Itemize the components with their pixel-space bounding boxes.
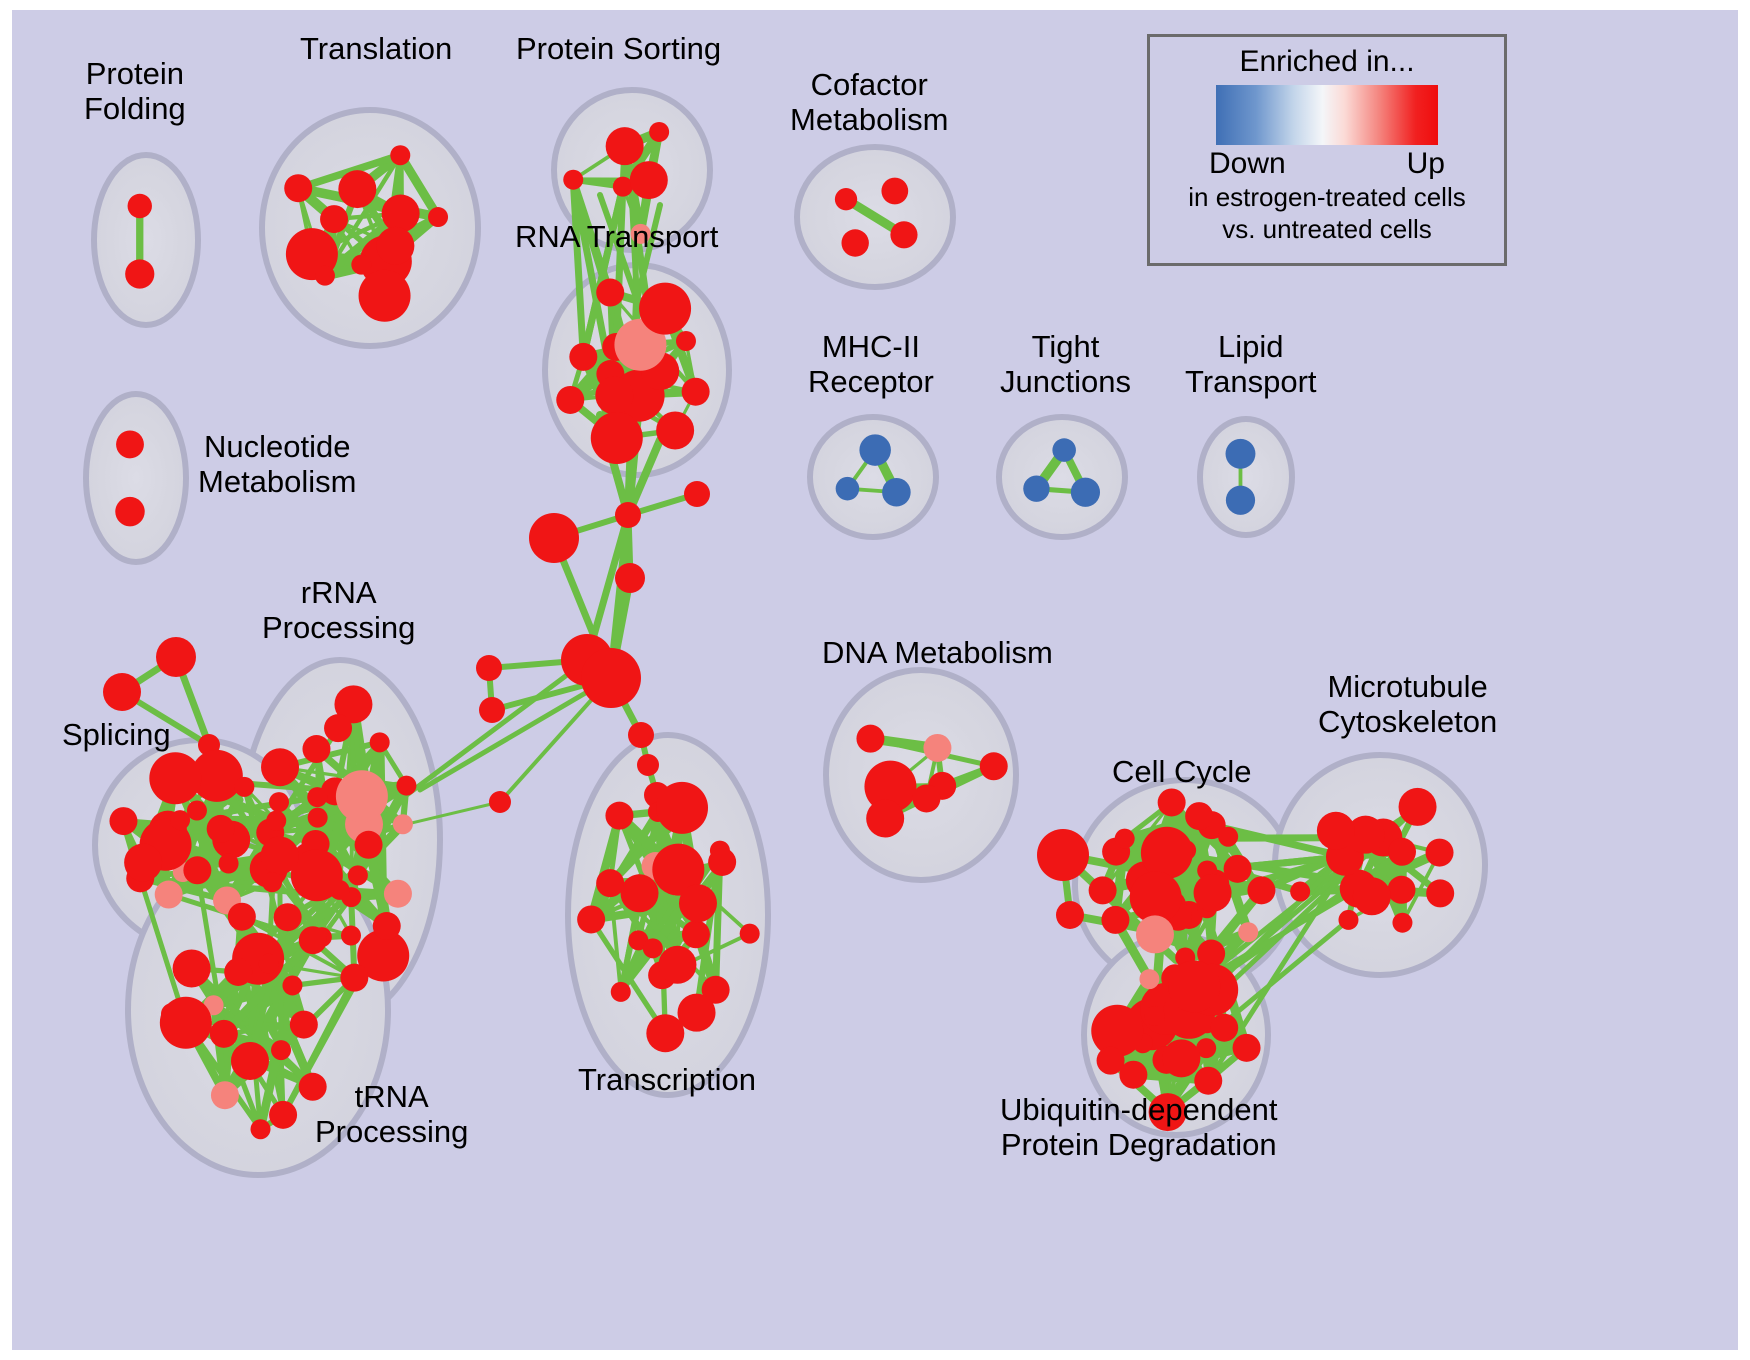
network-node [1317, 812, 1355, 850]
network-node [615, 502, 641, 528]
network-node [266, 811, 286, 831]
network-node [1071, 478, 1100, 507]
network-node [591, 412, 643, 464]
network-node [556, 386, 584, 414]
network-node [684, 481, 710, 507]
cluster-label-protein-sorting: Protein Sorting [516, 32, 721, 67]
network-node [390, 145, 410, 165]
network-node [109, 807, 137, 835]
network-node [643, 938, 663, 958]
network-node [1194, 874, 1232, 912]
legend-right-label: Up [1407, 147, 1445, 181]
cluster-label-ubiquitin-protein-degradation: Ubiquitin-dependent Protein Degradation [1000, 1093, 1278, 1162]
cluster-halo-lipid-transport [1200, 419, 1292, 535]
network-node [393, 814, 413, 834]
network-node [307, 787, 327, 807]
network-node [1023, 475, 1049, 501]
network-node [890, 221, 917, 248]
network-node [479, 697, 505, 723]
network-node [224, 958, 252, 986]
network-node [656, 411, 694, 449]
network-node [1247, 876, 1275, 904]
network-node [156, 637, 196, 677]
network-node [355, 831, 383, 859]
network-node [261, 836, 299, 874]
network-node [384, 880, 412, 908]
cluster-label-rna-transport: RNA Transport [515, 220, 718, 255]
network-node [637, 754, 659, 776]
cluster-label-mhc-ii-receptor: MHC-II Receptor [808, 330, 934, 399]
network-node [581, 648, 641, 708]
network-node [251, 1119, 271, 1139]
cluster-label-nucleotide-metabolism: Nucleotide Metabolism [198, 430, 357, 499]
network-node [315, 266, 335, 286]
network-node [128, 194, 152, 218]
legend-subtitle-line2: vs. untreated cells [1222, 214, 1432, 245]
figure-canvas: Protein FoldingTranslationProtein Sortin… [0, 0, 1750, 1360]
network-node [351, 255, 371, 275]
network-node [912, 784, 940, 812]
network-node [1139, 969, 1159, 989]
cluster-label-lipid-transport: Lipid Transport [1185, 330, 1317, 399]
network-node [611, 982, 631, 1002]
network-node [234, 777, 254, 797]
network-node [1089, 876, 1117, 904]
network-node [882, 478, 911, 507]
network-node [259, 954, 279, 974]
network-node [836, 477, 860, 501]
network-node [1399, 788, 1437, 826]
cluster-label-trna-processing: tRNA Processing [315, 1080, 468, 1149]
network-node [103, 673, 141, 711]
network-node [1290, 882, 1310, 902]
cluster-label-rrna-processing: rRNA Processing [262, 576, 415, 645]
network-node [207, 815, 235, 843]
network-node [376, 227, 414, 265]
network-node [1194, 1067, 1222, 1095]
network-node [682, 378, 710, 406]
network-node [605, 802, 633, 830]
network-node [639, 283, 691, 335]
network-node [841, 229, 868, 256]
network-node [676, 331, 696, 351]
network-node [269, 1101, 297, 1129]
legend-colorbar [1216, 85, 1438, 145]
network-node [1388, 838, 1416, 866]
cluster-label-tight-junctions: Tight Junctions [1000, 330, 1131, 399]
network-node [160, 997, 212, 1049]
network-node [1226, 486, 1255, 515]
network-node [308, 808, 328, 828]
cluster-label-protein-folding: Protein Folding [84, 57, 186, 126]
network-node [596, 279, 624, 307]
legend-title: Enriched in... [1239, 45, 1414, 79]
network-node [606, 127, 644, 165]
network-node [348, 865, 368, 885]
network-node [183, 856, 211, 884]
network-node [569, 343, 597, 371]
network-node [210, 1020, 238, 1048]
network-node [1210, 1014, 1238, 1042]
network-node [595, 376, 633, 414]
cluster-label-transcription: Transcription [578, 1063, 756, 1098]
cluster-label-splicing: Splicing [62, 718, 171, 753]
network-node [262, 872, 282, 892]
legend-subtitle-line1: in estrogen-treated cells [1188, 182, 1465, 213]
network-node [115, 497, 144, 526]
network-node [1226, 439, 1256, 469]
network-node [866, 799, 904, 837]
network-node [219, 853, 239, 873]
cluster-halo-nucleotide-metabolism [86, 394, 186, 562]
network-node [1158, 788, 1186, 816]
network-node [835, 188, 857, 210]
network-node [658, 946, 696, 984]
network-node [370, 732, 390, 752]
network-node [149, 752, 201, 804]
cluster-label-microtubule-cytoskeleton: Microtubule Cytoskeleton [1318, 670, 1497, 739]
network-node [261, 748, 299, 786]
cluster-label-cofactor-metabolism: Cofactor Metabolism [790, 68, 949, 137]
network-node [211, 1081, 239, 1109]
network-node [341, 926, 361, 946]
network-node [274, 903, 302, 931]
network-node [1136, 915, 1174, 953]
network-node [1056, 901, 1084, 929]
network-node [116, 430, 144, 458]
network-node [1168, 961, 1220, 1013]
network-node [630, 161, 668, 199]
network-node [740, 924, 760, 944]
network-node [187, 801, 207, 821]
network-node [1388, 876, 1416, 904]
network-node [359, 270, 411, 322]
network-node [708, 848, 736, 876]
network-node [271, 1040, 291, 1060]
network-node [1353, 877, 1391, 915]
network-node [396, 776, 416, 796]
network-node [228, 903, 256, 931]
network-node [299, 926, 327, 954]
network-node [320, 205, 348, 233]
network-node [302, 735, 330, 763]
network-node [628, 722, 654, 748]
network-node [678, 994, 716, 1032]
network-node [615, 563, 645, 593]
network-node [1233, 1034, 1261, 1062]
network-node [679, 884, 717, 922]
network-node [282, 975, 302, 995]
network-node [1218, 827, 1238, 847]
network-node [170, 810, 190, 830]
network-node [577, 905, 605, 933]
network-node [324, 714, 352, 742]
network-node [489, 791, 511, 813]
network-node [373, 912, 401, 940]
network-node [290, 1011, 318, 1039]
network-node [859, 434, 890, 465]
network-node [529, 513, 579, 563]
network-node [563, 170, 583, 190]
network-node [1115, 829, 1135, 849]
network-node [1392, 913, 1412, 933]
network-node [476, 655, 502, 681]
network-node [649, 122, 669, 142]
network-node [1338, 910, 1358, 930]
network-node [382, 194, 420, 232]
network-node [1185, 802, 1213, 830]
network-node [1052, 438, 1076, 462]
network-node [231, 1042, 269, 1080]
cluster-halo-tight-junctions [999, 417, 1125, 537]
network-node [340, 964, 368, 992]
legend-box: Enriched in... Down Up in estrogen-treat… [1147, 34, 1507, 266]
network-node [980, 752, 1008, 780]
network-node [124, 844, 162, 882]
network-node [646, 1014, 684, 1052]
network-node [125, 259, 154, 288]
network-node [923, 734, 951, 762]
network-node [1426, 879, 1454, 907]
network-node [856, 725, 884, 753]
network-node [269, 792, 289, 812]
network-node [1101, 906, 1129, 934]
network-node [1145, 1006, 1165, 1026]
network-node [1238, 922, 1258, 942]
network-node [596, 869, 624, 897]
network-node [1224, 855, 1252, 883]
network-node [428, 207, 448, 227]
cluster-label-dna-metabolism: DNA Metabolism [822, 636, 1053, 671]
network-node [173, 949, 211, 987]
network-node [1141, 827, 1193, 879]
network-node [336, 770, 388, 822]
network-node [1097, 1047, 1125, 1075]
legend-left-label: Down [1209, 147, 1286, 181]
cluster-label-cell-cycle: Cell Cycle [1112, 755, 1252, 790]
network-node [881, 178, 908, 205]
network-node [1037, 829, 1089, 881]
network-node [621, 874, 659, 912]
network-node [338, 170, 376, 208]
network-node [155, 881, 183, 909]
network-node [284, 174, 312, 202]
network-node [1426, 839, 1454, 867]
network-node [656, 782, 708, 834]
cluster-halo-protein-folding [94, 155, 198, 325]
network-node [1162, 1039, 1200, 1077]
network-node [682, 920, 710, 948]
cluster-label-translation: Translation [300, 32, 452, 67]
